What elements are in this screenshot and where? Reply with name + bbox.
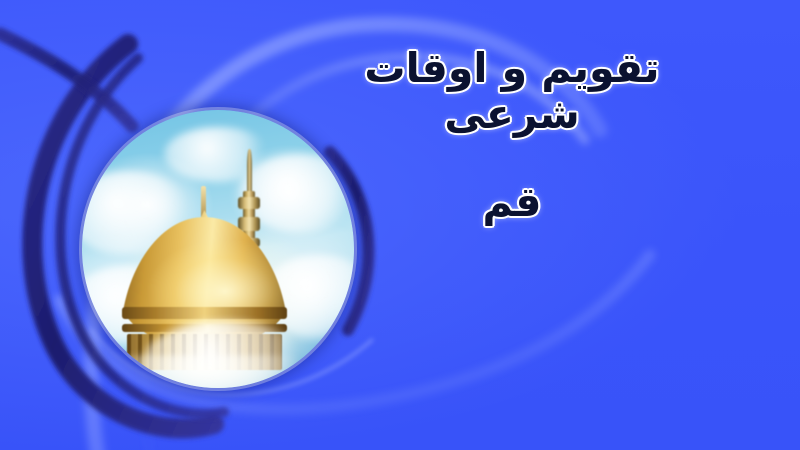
qom-prayer-times-banner: تقویم و اوقات شرعی قم [0,0,800,450]
headline-line-1: تقویم و اوقات شرعی [302,46,722,138]
headline-line-2: قم [302,180,722,226]
banner-headline: تقویم و اوقات شرعی قم [302,46,722,226]
minaret-balcony [238,197,260,208]
minaret-tip [247,149,252,194]
dome-band [122,307,287,319]
